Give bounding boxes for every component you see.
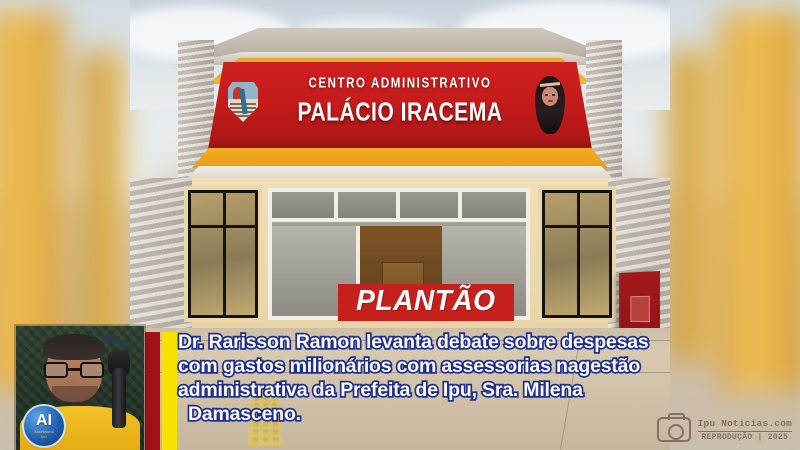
stone-wall-left [130, 178, 192, 338]
avatar-beard [52, 386, 98, 406]
avatar-hair [43, 334, 105, 360]
window-right [542, 190, 612, 318]
watermark: Ipu Noticias.com REPRODUÇÃO | 2025 [657, 417, 792, 442]
news-graphic-canvas: CENTRO ADMINISTRATIVO PALÁCIO IRACEMA [0, 0, 800, 450]
flag-bar-red [145, 332, 160, 450]
transom-windows [272, 192, 526, 222]
headline-line-2: com gastos milionários com assessorias n… [178, 354, 738, 378]
building-sign-panel: CENTRO ADMINISTRATIVO PALÁCIO IRACEMA [204, 62, 596, 150]
avatar-logo-badge: AI Assessoria Ipu [24, 406, 64, 446]
backdrop-pillar-right-inner [668, 50, 711, 361]
breaking-news-label: PLANTÃO [356, 287, 495, 316]
flag-bar-yellow [162, 332, 177, 450]
facade-yellow-band [192, 148, 608, 168]
eyeglasses-icon [44, 362, 104, 378]
headline-text: Dr. Rarisson Ramon levanta debate sobre … [178, 330, 738, 426]
headline-line-4: Damasceno. [178, 402, 738, 426]
presenter-avatar: AI Assessoria Ipu [16, 326, 144, 450]
avatar-badge-initials: AI [36, 413, 52, 429]
iracema-illustration-icon [530, 76, 570, 136]
watermark-text: Ipu Noticias.com REPRODUÇÃO | 2025 [698, 418, 792, 442]
backdrop-pillar-left-inner [80, 50, 123, 361]
microphone-icon [106, 338, 132, 434]
watermark-site: Ipu Noticias.com [698, 418, 792, 429]
flag-accent-bars [145, 332, 177, 450]
window-left [188, 190, 258, 318]
watermark-divider [698, 431, 792, 432]
headline-line-3: administrativa da Prefeita de Ipu, Sra. … [178, 378, 738, 402]
avatar-badge-subtitle-1: Assessoria [34, 430, 54, 434]
avatar-badge-subtitle-2: Ipu [41, 435, 47, 439]
headline-line-1: Dr. Rarisson Ramon levanta debate sobre … [178, 330, 738, 354]
watermark-notice: REPRODUÇÃO | 2025 [701, 433, 788, 442]
camera-icon [657, 417, 691, 442]
breaking-news-banner: PLANTÃO [338, 284, 514, 321]
